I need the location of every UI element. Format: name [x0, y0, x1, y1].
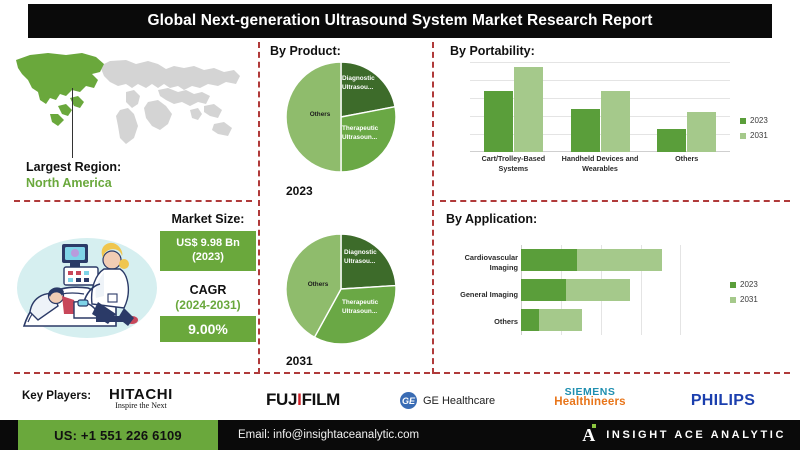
- bar-2023: [571, 109, 600, 152]
- legend-swatch-2023: [740, 118, 746, 124]
- pie-2023-year: 2023: [286, 184, 396, 198]
- cagr-label: CAGR: [160, 283, 256, 297]
- bar-2023: [484, 91, 513, 152]
- divider-horizontal-right: [440, 200, 790, 202]
- email-block[interactable]: Email: info@insightaceanalytic.com: [238, 420, 419, 450]
- application-category-labels: Cardiovascular ImagingGeneral ImagingOth…: [436, 245, 518, 335]
- divider-horizontal-bottom: [14, 372, 790, 374]
- bar-segment-2031: [566, 279, 630, 301]
- bar-segment-2023: [521, 309, 539, 331]
- ultrasound-illustration: [12, 222, 162, 352]
- logo-fujifilm: FUJIFILM: [248, 390, 358, 410]
- bar-category-label: Handheld Devices and Wearables: [557, 154, 644, 173]
- bar-row: [521, 249, 681, 271]
- brand-logo: A INSIGHT ACE ANALYTIC: [582, 420, 786, 450]
- cagr-range: (2024-2031): [160, 298, 256, 312]
- legend-label-2023-app: 2023: [740, 280, 758, 289]
- portability-legend: 2023 2031: [740, 116, 768, 146]
- largest-region-block: Largest Region: North America: [26, 160, 121, 190]
- application-bar-rows: [521, 245, 681, 335]
- brand-letter: A: [582, 425, 595, 445]
- market-size-label: Market Size:: [160, 212, 256, 226]
- divider-horizontal-left: [14, 200, 252, 202]
- brand-name: INSIGHT ACE ANALYTIC: [606, 429, 786, 441]
- largest-region-value: North America: [26, 176, 121, 190]
- market-size-year: (2023): [164, 251, 252, 265]
- pie-chart-2023: Diagnostic Ultrasou... Therapeutic Ultra…: [286, 62, 396, 198]
- bar-segment-2031: [539, 309, 582, 331]
- portability-bar-groups: [470, 62, 730, 152]
- bar-group: [643, 62, 730, 152]
- bar-group: [557, 62, 644, 152]
- key-players-label: Key Players:: [22, 390, 91, 402]
- email-address: Email: info@insightaceanalytic.com: [238, 429, 419, 441]
- logo-hitachi: HITACHI Inspire the Next: [86, 386, 196, 410]
- market-size-value: US$ 9.98 Bn: [164, 237, 252, 251]
- bar-category-label: Cart/Trolley-Based Systems: [470, 154, 557, 173]
- bar-category-label: Cardiovascular Imaging: [436, 253, 518, 273]
- bar-2031: [514, 67, 543, 152]
- bar-row: [521, 309, 681, 331]
- section-title-by-portability: By Portability:: [450, 44, 535, 58]
- map-leader-line: [72, 88, 73, 158]
- cagr-block: CAGR (2024-2031) 9.00%: [160, 283, 256, 342]
- world-map: [8, 44, 248, 154]
- ge-monogram-icon: GE: [400, 392, 417, 409]
- divider-vertical-left: [258, 42, 260, 374]
- section-title-by-application: By Application:: [446, 212, 537, 226]
- divider-vertical-right: [432, 42, 434, 374]
- pie-2031-label-diagnostic: Diagnostic Ultrasou...: [344, 248, 400, 267]
- philips-wordmark: PHILIPS: [668, 392, 778, 410]
- logo-philips: PHILIPS: [668, 392, 778, 410]
- legend-swatch-2023-app: [730, 282, 736, 288]
- portability-category-labels: Cart/Trolley-Based SystemsHandheld Devic…: [470, 154, 730, 173]
- legend-label-2031-app: 2031: [740, 295, 758, 304]
- pie-2023-label-diagnostic: Diagnostic Ultrasou...: [342, 74, 398, 93]
- legend-swatch-2031: [740, 133, 746, 139]
- bar-group: [470, 62, 557, 152]
- bar-segment-2023: [521, 249, 577, 271]
- phone-number: US: +1 551 226 6109: [54, 428, 182, 443]
- phone-banner[interactable]: US: +1 551 226 6109: [18, 420, 218, 450]
- brand-a-icon: A: [582, 426, 597, 445]
- healthineers-wordmark: Healthineers: [530, 396, 650, 408]
- pie-2031-year: 2031: [286, 354, 396, 368]
- bar-2023: [657, 129, 686, 152]
- legend-item-2031-app: 2031: [730, 295, 758, 304]
- fujifilm-wordmark: FUJIFILM: [248, 390, 358, 410]
- logo-siemens-healthineers: SIEMENS Healthineers: [530, 386, 650, 408]
- bar-category-label: Others: [436, 317, 518, 327]
- legend-label-2023: 2023: [750, 116, 768, 125]
- legend-item-2031: 2031: [740, 131, 768, 140]
- pie-2023-label-others: Others: [300, 110, 340, 119]
- application-bar-chart: [521, 245, 681, 335]
- page-title: Global Next-generation Ultrasound System…: [147, 12, 652, 30]
- section-title-by-product: By Product:: [270, 44, 341, 58]
- market-size-block: Market Size: US$ 9.98 Bn (2023): [160, 212, 256, 271]
- hitachi-tagline: Inspire the Next: [86, 401, 196, 410]
- largest-region-label: Largest Region:: [26, 160, 121, 174]
- infographic-page: Global Next-generation Ultrasound System…: [0, 0, 800, 450]
- legend-item-2023: 2023: [740, 116, 768, 125]
- bar-row: [521, 279, 681, 301]
- bar-2031: [601, 91, 630, 152]
- bar-category-label: General Imaging: [436, 290, 518, 300]
- bar-2031: [687, 112, 716, 152]
- application-legend: 2023 2031: [730, 280, 758, 310]
- legend-swatch-2031-app: [730, 297, 736, 303]
- legend-label-2031: 2031: [750, 131, 768, 140]
- legend-item-2023-app: 2023: [730, 280, 758, 289]
- ge-logo-group: GE GE Healthcare: [400, 392, 530, 409]
- ge-healthcare-wordmark: GE Healthcare: [423, 395, 495, 407]
- cagr-value-badge: 9.00%: [160, 316, 256, 342]
- portability-bar-chart: [470, 62, 730, 152]
- header-bar: Global Next-generation Ultrasound System…: [28, 4, 772, 38]
- bar-segment-2031: [577, 249, 662, 271]
- pie-2023-label-therapeutic: Therapeutic Ultrasoun...: [342, 124, 398, 143]
- pie-2031-label-therapeutic: Therapeutic Ultrasoun...: [342, 298, 398, 317]
- bar-segment-2023: [521, 279, 566, 301]
- market-size-badge: US$ 9.98 Bn (2023): [160, 231, 256, 271]
- brand-dot-icon: [592, 424, 596, 428]
- pie-chart-2031: Diagnostic Ultrasou... Therapeutic Ultra…: [286, 234, 396, 368]
- logo-ge-healthcare: GE GE Healthcare: [400, 392, 530, 409]
- map-region-north-america: [16, 53, 104, 126]
- bar-category-label: Others: [643, 154, 730, 173]
- pie-2031-label-others: Others: [298, 280, 338, 289]
